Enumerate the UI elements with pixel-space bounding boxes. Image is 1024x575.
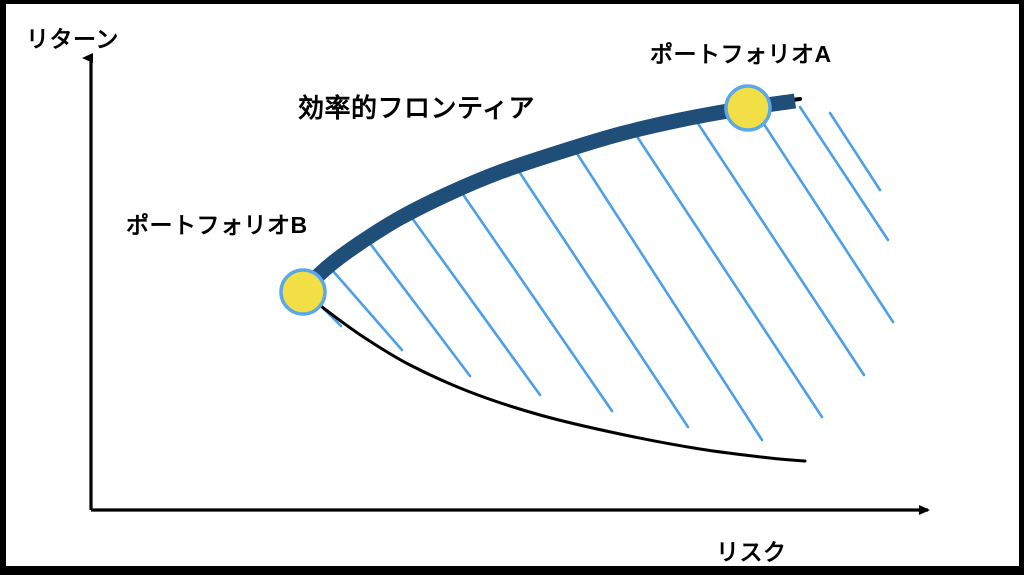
diagram-canvas [0, 0, 1024, 575]
hatch-line [636, 135, 822, 417]
y-axis-label: リターン [26, 20, 119, 54]
feasible-region-hatching [317, 107, 893, 440]
portfolio-marker[interactable] [726, 86, 770, 130]
portfolio-b-label: ポートフォリオB [126, 206, 308, 240]
hatch-line [369, 242, 470, 376]
hatch-line [412, 218, 540, 395]
feasible-set-lower-boundary [303, 292, 805, 461]
portfolio-marker[interactable] [281, 270, 325, 314]
efficient-frontier-label: 効率的フロンティア [298, 88, 535, 125]
hatch-line [800, 107, 888, 240]
hatch-line [518, 170, 688, 427]
x-axis-label: リスク [716, 533, 787, 567]
portfolio-a-label: ポートフォリオA [650, 35, 832, 69]
efficient-frontier-diagram: リターン リスク ポートフォリオA ポートフォリオB 効率的フロンティア [0, 0, 1024, 575]
hatch-line [462, 193, 612, 411]
hatch-line [697, 122, 864, 375]
hatch-line [830, 113, 880, 190]
efficient-frontier-curve [303, 101, 795, 290]
